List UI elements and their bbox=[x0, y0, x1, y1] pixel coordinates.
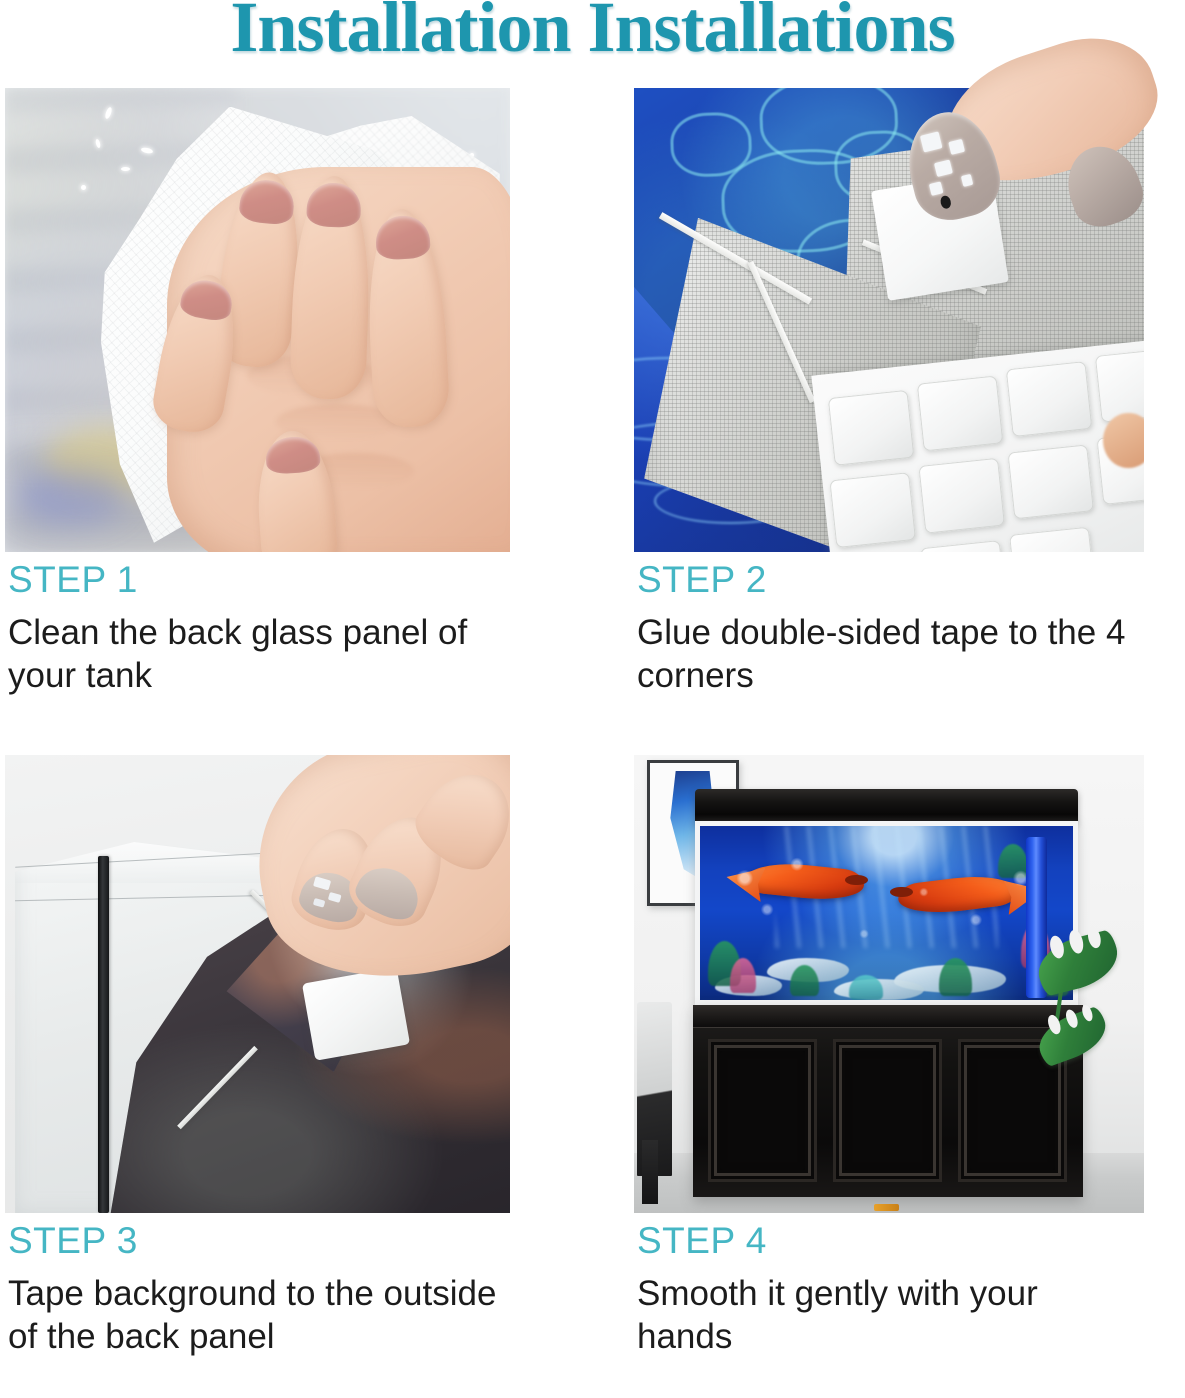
step-4-cell: STEP 4 Smooth it gently with your hands bbox=[634, 755, 1144, 1359]
aquarium-tank bbox=[695, 821, 1078, 1004]
step-4-description: Smooth it gently with your hands bbox=[634, 1261, 1134, 1358]
step-2-label: STEP 2 bbox=[634, 559, 1144, 600]
aquarium-cabinet-stand bbox=[693, 1005, 1083, 1197]
step-3-photo-tape-to-panel bbox=[5, 755, 510, 1213]
step-4-photo-finished-tank bbox=[634, 755, 1144, 1213]
coral-pattern bbox=[669, 111, 753, 178]
step-1-photo-clean-glass bbox=[5, 88, 510, 552]
step-2-description: Glue double-sided tape to the 4 corners bbox=[634, 600, 1134, 697]
step-4-label: STEP 4 bbox=[634, 1220, 1144, 1261]
installation-guide-page: Installation Installations bbox=[0, 0, 1185, 1398]
side-furniture-leg bbox=[642, 1140, 658, 1204]
tape-pad bbox=[1006, 362, 1092, 438]
step-2-cell: STEP 2 Glue double-sided tape to the 4 c… bbox=[634, 88, 1144, 698]
step-3-label: STEP 3 bbox=[5, 1220, 510, 1261]
tape-pad bbox=[1007, 444, 1093, 520]
tape-pad bbox=[1095, 347, 1144, 423]
tape-pad bbox=[827, 390, 913, 466]
aquarium-light-hood bbox=[695, 789, 1078, 823]
step-2-caption: STEP 2 Glue double-sided tape to the 4 c… bbox=[634, 552, 1144, 698]
step-1-label: STEP 1 bbox=[5, 559, 510, 600]
tape-pad bbox=[920, 541, 1006, 552]
tape-pad bbox=[917, 376, 1003, 452]
tape-pad-sheet bbox=[811, 340, 1144, 552]
step-2-photo-apply-tape bbox=[634, 88, 1144, 552]
cabinet-door-left[interactable] bbox=[708, 1039, 817, 1181]
bubbles bbox=[700, 826, 1073, 999]
double-sided-tape-pad bbox=[302, 967, 410, 1060]
step-3-cell: STEP 3 Tape background to the outside of… bbox=[5, 755, 510, 1359]
background-blur-blue bbox=[15, 469, 126, 525]
step-3-description: Tape background to the outside of the ba… bbox=[5, 1261, 505, 1358]
floor-accent bbox=[874, 1204, 900, 1211]
step-4-caption: STEP 4 Smooth it gently with your hands bbox=[634, 1213, 1144, 1359]
tank-corner-trim bbox=[98, 856, 109, 1213]
cabinet-door-middle[interactable] bbox=[833, 1039, 942, 1181]
tape-pad bbox=[1009, 526, 1095, 552]
step-1-cell: STEP 1 Clean the back glass panel of you… bbox=[5, 88, 510, 698]
tape-pad bbox=[829, 472, 915, 548]
tape-pad bbox=[918, 458, 1004, 534]
water-speck bbox=[121, 167, 130, 171]
step-3-caption: STEP 3 Tape background to the outside of… bbox=[5, 1213, 510, 1359]
step-1-caption: STEP 1 Clean the back glass panel of you… bbox=[5, 552, 510, 698]
step-1-description: Clean the back glass panel of your tank bbox=[5, 600, 505, 697]
cabinet-top-trim bbox=[693, 1005, 1083, 1028]
